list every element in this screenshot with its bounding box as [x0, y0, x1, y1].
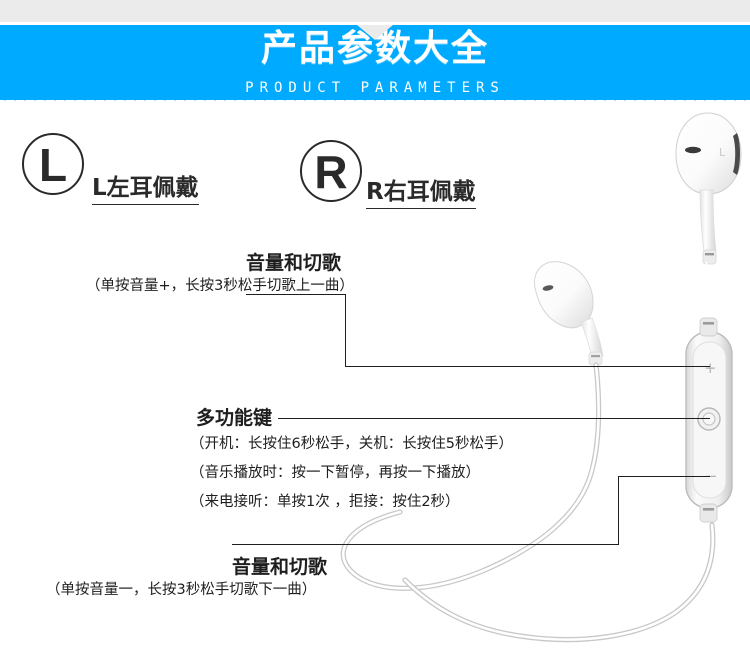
- earbud-left: [535, 262, 603, 365]
- leader-volume-down-underline: [232, 544, 619, 545]
- annotation-volume-down-line-1: （单按音量一，长按3秒松手切歌下一曲）: [46, 578, 316, 599]
- banner-zigzag-edge: [0, 93, 750, 101]
- left-ear-label-text: L左耳佩戴: [92, 168, 199, 205]
- controller-module: + −: [686, 318, 732, 522]
- top-gray-strip: [0, 0, 750, 22]
- banner-notch-triangle-icon: [357, 25, 393, 40]
- annotation-multifunction-line-1: （开机：长按住6秒松手，关机：长按住5秒松手）: [190, 432, 513, 453]
- left-ear-badge-letter: L: [39, 142, 67, 188]
- right-ear-label-text: R右耳佩戴: [366, 172, 476, 209]
- svg-text:L: L: [719, 146, 726, 159]
- earbud-right: L: [676, 113, 741, 335]
- right-ear-badge-letter: R: [314, 149, 347, 195]
- annotation-multifunction-line-3: （来电接听：单按1次 ，拒接：按住2秒）: [190, 490, 460, 511]
- svg-text:+: +: [704, 359, 717, 377]
- annotation-multifunction-title: 多功能键: [196, 403, 272, 430]
- leader-volume-up-horizontal: [345, 366, 710, 367]
- leader-volume-down-vertical: [618, 476, 619, 545]
- annotation-multifunction-line-2: （音乐播放时：按一下暂停，再按一下播放）: [190, 461, 480, 482]
- leader-volume-up-underline: [246, 294, 345, 295]
- leader-volume-up-vertical: [345, 294, 346, 367]
- annotation-volume-up-title: 音量和切歌: [246, 248, 341, 275]
- product-parameters-page: 产品参数大全 PRODUCT PARAMETERS: [0, 0, 750, 652]
- leader-volume-down-horizontal: [618, 476, 710, 477]
- leader-multifunction-horizontal: [278, 418, 710, 419]
- annotation-volume-up-line-1: （单按音量+，长按3秒松手切歌上一曲）: [86, 274, 354, 295]
- left-ear-circle-icon: L: [22, 133, 84, 195]
- annotation-volume-down-title: 音量和切歌: [232, 552, 327, 579]
- right-ear-circle-icon: R: [300, 140, 362, 202]
